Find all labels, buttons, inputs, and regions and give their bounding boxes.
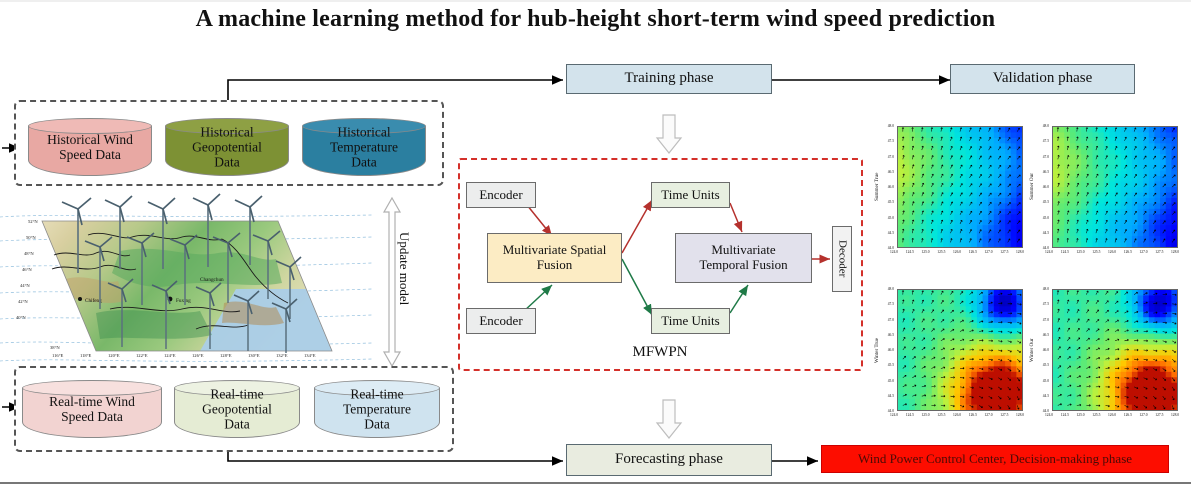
heatmap-cell bbox=[1132, 383, 1138, 389]
label-line: Speed Data bbox=[28, 147, 152, 162]
axis-xtick: 127.5 bbox=[1155, 250, 1163, 254]
heatmap-cell bbox=[1076, 317, 1082, 323]
axis-xtick: 128.0 bbox=[1016, 413, 1024, 417]
heatmap-cell bbox=[909, 388, 915, 394]
heatmap-cell bbox=[1109, 198, 1115, 204]
heatmap-cell bbox=[1132, 345, 1138, 351]
heatmap-cell bbox=[949, 328, 955, 334]
heatmap-cell bbox=[932, 149, 938, 155]
heatmap-cell bbox=[937, 394, 943, 400]
heatmap-cell bbox=[1070, 306, 1076, 312]
heatmap-cell bbox=[1005, 138, 1011, 144]
heatmap-cell bbox=[977, 242, 983, 247]
heatmap-cell bbox=[983, 171, 989, 177]
heatmap-cell bbox=[1087, 187, 1093, 193]
label-line: Geopotential bbox=[174, 401, 300, 416]
heatmap-cell bbox=[983, 339, 989, 345]
heatmap-cell bbox=[1092, 171, 1098, 177]
heatmap-cell bbox=[1053, 187, 1059, 193]
heatmap-cell bbox=[994, 171, 1000, 177]
heatmap-cell bbox=[960, 132, 966, 138]
heatmap-cell bbox=[994, 198, 1000, 204]
heatmap-cell bbox=[1098, 220, 1104, 226]
heatmap-cell bbox=[1160, 306, 1166, 312]
time-units-bottom-box[interactable]: Time Units bbox=[651, 308, 730, 334]
heatmap-cell bbox=[966, 399, 972, 405]
heatmap-cell bbox=[949, 312, 955, 318]
time-units-top-box[interactable]: Time Units bbox=[651, 182, 730, 208]
heatmap-cell bbox=[943, 209, 949, 215]
heatmap-cell bbox=[977, 209, 983, 215]
heatmap-cell bbox=[1087, 328, 1093, 334]
heatmap-cell bbox=[954, 405, 960, 410]
heatmap-cell bbox=[1149, 301, 1155, 307]
heatmap-cell bbox=[909, 160, 915, 166]
axis-xtick: 126.0 bbox=[1108, 413, 1116, 417]
heatmap-cell bbox=[1098, 236, 1104, 242]
heatmap-cell bbox=[1081, 366, 1087, 372]
heatmap-cell bbox=[983, 383, 989, 389]
heatmap-cell bbox=[1166, 317, 1172, 323]
heatmap-cell bbox=[966, 203, 972, 209]
heatmap-cell bbox=[1138, 160, 1144, 166]
heatmap-cell bbox=[1064, 154, 1070, 160]
heatmap-cell bbox=[1070, 203, 1076, 209]
heatmap-cell bbox=[983, 236, 989, 242]
heatmap-cell bbox=[904, 154, 910, 160]
heatmap-cell bbox=[926, 366, 932, 372]
heatmap-cell bbox=[1076, 160, 1082, 166]
heatmap-cell bbox=[1109, 312, 1115, 318]
heatmap-cell bbox=[1149, 394, 1155, 400]
cylinder-realtime-wind-speed[interactable]: Real-time Wind Speed Data bbox=[22, 380, 162, 438]
heatmap-cell bbox=[1016, 334, 1022, 340]
heatmap-cell bbox=[1070, 127, 1076, 133]
heatmap-cell bbox=[926, 231, 932, 237]
heatmap-cell bbox=[1081, 377, 1087, 383]
heatmap-cell bbox=[1143, 334, 1149, 340]
heatmap-cell bbox=[966, 295, 972, 301]
multivariate-spatial-fusion-box[interactable]: Multivariate Spatial Fusion bbox=[487, 233, 622, 283]
heatmap-cell bbox=[1092, 231, 1098, 237]
heatmap-cell bbox=[977, 154, 983, 160]
forecasting-phase-box[interactable]: Forecasting phase bbox=[566, 444, 772, 476]
heatmap-cell bbox=[954, 388, 960, 394]
heatmap-cell bbox=[1076, 127, 1082, 133]
heatmap-cell bbox=[1171, 388, 1177, 394]
heatmap-cell bbox=[1011, 225, 1017, 231]
heatmap-cell bbox=[904, 187, 910, 193]
heatmap-cell bbox=[1115, 149, 1121, 155]
heatmap-cell bbox=[983, 182, 989, 188]
heatmap-cell bbox=[1005, 399, 1011, 405]
heatmap-cell bbox=[983, 214, 989, 220]
heatmap-cell bbox=[926, 203, 932, 209]
heatmap-cell bbox=[921, 138, 927, 144]
heatmap-cell bbox=[999, 154, 1005, 160]
heatmap-cell bbox=[1166, 236, 1172, 242]
heatmap-cell bbox=[1160, 372, 1166, 378]
axis-ytick: 47.0 bbox=[1029, 155, 1049, 159]
heatmap-cell bbox=[904, 290, 910, 296]
heatmap-cell bbox=[1081, 143, 1087, 149]
heatmap-cell bbox=[983, 355, 989, 361]
heatmap-cell bbox=[1011, 383, 1017, 389]
encoder-top-box[interactable]: Encoder bbox=[466, 182, 536, 208]
heatmap-cell bbox=[983, 203, 989, 209]
heatmap-cell bbox=[926, 317, 932, 323]
heatmap-cell bbox=[1104, 242, 1110, 247]
heatmap-cell bbox=[1154, 231, 1160, 237]
heatmap-cell bbox=[1138, 372, 1144, 378]
heatmap-cell bbox=[1154, 290, 1160, 296]
heatmap-cell bbox=[1171, 198, 1177, 204]
heatmap-cell bbox=[1154, 405, 1160, 410]
heatmap-cell bbox=[983, 225, 989, 231]
heatmap-cell bbox=[1109, 388, 1115, 394]
heatmap-cell bbox=[943, 306, 949, 312]
heatmap-cell bbox=[1166, 399, 1172, 405]
heatmap-cell bbox=[1154, 350, 1160, 356]
heatmap-cell bbox=[971, 138, 977, 144]
heatmap-cell bbox=[1053, 366, 1059, 372]
heatmap-cell bbox=[1160, 334, 1166, 340]
heatmap-cell bbox=[932, 361, 938, 367]
heatmap-cell bbox=[1166, 366, 1172, 372]
box-line: Fusion bbox=[537, 258, 572, 273]
heatmap-cell bbox=[1154, 242, 1160, 247]
heatmap-cell bbox=[1109, 127, 1115, 133]
heatmap-cell bbox=[966, 149, 972, 155]
heatmap-cell bbox=[1149, 171, 1155, 177]
heatmap-cell bbox=[1070, 176, 1076, 182]
china-terrain-wind-farm-map: Chifeng Fuxing Changchun 52°N 50°N bbox=[0, 193, 372, 369]
axis-ytick: 45.0 bbox=[1029, 379, 1049, 383]
heatmap-cell bbox=[1005, 306, 1011, 312]
heatmap-cell bbox=[1109, 149, 1115, 155]
label-line: Data bbox=[314, 417, 440, 432]
heatmap-cell bbox=[1160, 366, 1166, 372]
heatmap-cell bbox=[932, 176, 938, 182]
heatmap-cell bbox=[909, 399, 915, 405]
heatmap-cell bbox=[1109, 301, 1115, 307]
heatmap-cell bbox=[1098, 405, 1104, 410]
heatmap-cell bbox=[1121, 231, 1127, 237]
axis-xtick: 124.0 bbox=[890, 250, 898, 254]
heatmap-cell bbox=[949, 187, 955, 193]
heatmap-cell bbox=[1154, 171, 1160, 177]
heatmap-cell bbox=[1098, 306, 1104, 312]
heatmap-cell bbox=[966, 160, 972, 166]
heatmap-cell bbox=[1087, 350, 1093, 356]
heatmap-cell bbox=[966, 366, 972, 372]
heatmap-cell bbox=[943, 242, 949, 247]
axis-ytick: 47.5 bbox=[1029, 302, 1049, 306]
heatmap-cell bbox=[904, 176, 910, 182]
heatmap-cell bbox=[971, 312, 977, 318]
heatmap-cell bbox=[1109, 225, 1115, 231]
heatmap-cell bbox=[921, 290, 927, 296]
heatmap-cell bbox=[932, 138, 938, 144]
heatmap-cell bbox=[1098, 290, 1104, 296]
heatmap-cell bbox=[999, 171, 1005, 177]
heatmap-cell bbox=[1115, 242, 1121, 247]
heatmap-cell bbox=[999, 306, 1005, 312]
encoder-bottom-box[interactable]: Encoder bbox=[466, 308, 536, 334]
heatmap-cell bbox=[1166, 323, 1172, 329]
heatmap-cell bbox=[1092, 312, 1098, 318]
heatmap-cell bbox=[960, 388, 966, 394]
heatmap-cell bbox=[954, 361, 960, 367]
heatmap-cell bbox=[1059, 143, 1065, 149]
heatmap-cell bbox=[1011, 242, 1017, 247]
heatmap-cell bbox=[1121, 366, 1127, 372]
heatmap-cell bbox=[960, 323, 966, 329]
heatmap-cell bbox=[921, 154, 927, 160]
heatmap-cell bbox=[1121, 399, 1127, 405]
heatmap-cell bbox=[1064, 171, 1070, 177]
heatmap-cell bbox=[1081, 198, 1087, 204]
heatmap-cell bbox=[1149, 328, 1155, 334]
axis-xtick: 124.0 bbox=[890, 413, 898, 417]
heatmap-cell bbox=[1171, 345, 1177, 351]
heatmap-cell bbox=[1109, 361, 1115, 367]
heatmap-cell bbox=[1160, 214, 1166, 220]
heatmap-cell bbox=[1092, 388, 1098, 394]
heatmap-cell bbox=[983, 306, 989, 312]
heatmap-cell bbox=[1059, 377, 1065, 383]
heatmap-cell bbox=[1053, 388, 1059, 394]
heatmap-cell bbox=[1104, 388, 1110, 394]
heatmap-cell bbox=[937, 339, 943, 345]
heatmap-cell bbox=[1166, 127, 1172, 133]
heatmap-cell bbox=[904, 242, 910, 247]
heatmap-cell bbox=[1005, 295, 1011, 301]
heatmap-cell bbox=[1064, 143, 1070, 149]
heatmap-cell bbox=[1098, 225, 1104, 231]
training-phase-box[interactable]: Training phase bbox=[566, 64, 772, 94]
heatmap-cell bbox=[971, 214, 977, 220]
heatmap-cell bbox=[1064, 377, 1070, 383]
axis-xtick: 125.5 bbox=[937, 413, 945, 417]
heatmap-cell bbox=[977, 182, 983, 188]
heatmap-canvas bbox=[898, 290, 1022, 410]
axis-xtick: 127.0 bbox=[985, 413, 993, 417]
heatmap-cell bbox=[1016, 405, 1022, 410]
heatmap-cell bbox=[1098, 361, 1104, 367]
heatmap-cell bbox=[1011, 143, 1017, 149]
heatmap-cell bbox=[1059, 214, 1065, 220]
heatmap-cell bbox=[1160, 203, 1166, 209]
heatmap-cell bbox=[1011, 138, 1017, 144]
decoder-box[interactable]: Decoder bbox=[832, 226, 852, 292]
heatmap-cell bbox=[1166, 377, 1172, 383]
heatmap-cell bbox=[954, 323, 960, 329]
axis-xtick: 128.0 bbox=[1171, 413, 1179, 417]
heatmap-cell bbox=[1005, 312, 1011, 318]
heatmap-cell bbox=[954, 350, 960, 356]
heatmap-cell bbox=[926, 187, 932, 193]
heatmap-cell bbox=[1143, 160, 1149, 166]
heatmap-cell bbox=[937, 138, 943, 144]
heatmap-cell bbox=[983, 154, 989, 160]
heatmap-cell bbox=[1087, 225, 1093, 231]
heatmap-cell bbox=[1121, 138, 1127, 144]
axis-ytick: 44.5 bbox=[874, 394, 894, 398]
heatmap-cell bbox=[1011, 182, 1017, 188]
heatmap-cell bbox=[1011, 290, 1017, 296]
heatmap-cell bbox=[1076, 301, 1082, 307]
cylinder-historical-temperature[interactable]: Historical Temperature Data bbox=[302, 118, 426, 176]
heatmap-cell bbox=[943, 225, 949, 231]
heatmap-cell bbox=[1109, 203, 1115, 209]
multivariate-temporal-fusion-box[interactable]: Multivariate Temporal Fusion bbox=[675, 233, 812, 283]
heatmap-cell bbox=[1166, 355, 1172, 361]
axis-ytick: 46.5 bbox=[874, 333, 894, 337]
heatmap-cell bbox=[1064, 187, 1070, 193]
heatmap-cell bbox=[1109, 339, 1115, 345]
heatmap-cell bbox=[971, 149, 977, 155]
heatmap-cell bbox=[1138, 377, 1144, 383]
heatmap-cell bbox=[909, 394, 915, 400]
heatmap-cell bbox=[898, 399, 904, 405]
heatmap-cell bbox=[1109, 231, 1115, 237]
heatmap-cell bbox=[1070, 192, 1076, 198]
validation-phase-box[interactable]: Validation phase bbox=[950, 64, 1135, 94]
heatmap-cell bbox=[1092, 399, 1098, 405]
cylinder-realtime-geopotential[interactable]: Real-time Geopotential Data bbox=[174, 380, 300, 438]
heatmap-cell bbox=[1109, 295, 1115, 301]
heatmap-cell bbox=[1081, 214, 1087, 220]
heatmap-cell bbox=[1143, 361, 1149, 367]
heatmap-cell bbox=[915, 160, 921, 166]
heatmap-cell bbox=[909, 214, 915, 220]
heatmap-cell bbox=[988, 372, 994, 378]
panel-summer-true: Summer True 124.0124.5125.0125.5126.0126… bbox=[872, 118, 1032, 273]
heatmap-cell bbox=[1171, 160, 1177, 166]
heatmap-cell bbox=[915, 132, 921, 138]
heatmap-cell bbox=[1070, 377, 1076, 383]
heatmap-cell bbox=[943, 388, 949, 394]
heatmap-cell bbox=[954, 355, 960, 361]
heatmap-cell bbox=[949, 301, 955, 307]
heatmap-cell bbox=[954, 377, 960, 383]
heatmap-cell bbox=[1016, 138, 1022, 144]
cylinder-historical-wind-speed[interactable]: Historical Wind Speed Data bbox=[28, 118, 152, 176]
heatmap-cell bbox=[1076, 312, 1082, 318]
heatmap-cell bbox=[904, 306, 910, 312]
cylinder-realtime-temperature[interactable]: Real-time Temperature Data bbox=[314, 380, 440, 438]
heatmap-cell bbox=[966, 138, 972, 144]
heatmap-cell bbox=[977, 339, 983, 345]
heatmap-cell bbox=[904, 236, 910, 242]
heatmap-cell bbox=[1115, 182, 1121, 188]
heatmap-cell bbox=[921, 355, 927, 361]
heatmap-cell bbox=[1121, 209, 1127, 215]
heatmap-cell bbox=[1059, 187, 1065, 193]
heatmap-cell bbox=[1138, 312, 1144, 318]
heatmap-cell bbox=[1059, 312, 1065, 318]
heatmap-cell bbox=[915, 225, 921, 231]
heatmap-cell bbox=[1166, 192, 1172, 198]
heatmap-cell bbox=[1149, 295, 1155, 301]
heatmap-cell bbox=[1104, 399, 1110, 405]
heatmap-cell bbox=[954, 242, 960, 247]
heatmap-cell bbox=[1092, 394, 1098, 400]
heatmap-cell bbox=[960, 176, 966, 182]
heatmap-cell bbox=[1092, 361, 1098, 367]
control-center-box[interactable]: Wind Power Control Center, Decision-maki… bbox=[821, 445, 1169, 473]
heatmap-cell bbox=[1166, 149, 1172, 155]
heatmap-cell bbox=[904, 334, 910, 340]
heatmap-cell bbox=[926, 306, 932, 312]
heatmap-cell bbox=[1126, 328, 1132, 334]
heatmap-cell bbox=[1053, 214, 1059, 220]
heatmap-cell bbox=[1138, 339, 1144, 345]
heatmap-cell bbox=[1059, 366, 1065, 372]
heatmap-cell bbox=[1138, 154, 1144, 160]
heatmap-cell bbox=[926, 214, 932, 220]
axis-xtick: 126.5 bbox=[1124, 413, 1132, 417]
heatmap-cell bbox=[1132, 388, 1138, 394]
cylinder-label: Real-time Wind Speed Data bbox=[22, 394, 162, 424]
heatmap-cell bbox=[1109, 334, 1115, 340]
heatmap-cell bbox=[1070, 171, 1076, 177]
heatmap-cell bbox=[971, 323, 977, 329]
heatmap-cell bbox=[921, 203, 927, 209]
heatmap-cell bbox=[1126, 242, 1132, 247]
heatmap-cell bbox=[994, 399, 1000, 405]
heatmap-cell bbox=[1166, 160, 1172, 166]
heatmap-cell bbox=[1070, 154, 1076, 160]
heatmap-cell bbox=[904, 377, 910, 383]
heatmap-cell bbox=[1005, 361, 1011, 367]
ytick-col: 48.047.547.046.546.045.545.044.544.0 bbox=[1029, 126, 1051, 248]
heatmap-cell bbox=[994, 345, 1000, 351]
heatmap-cell bbox=[960, 165, 966, 171]
cylinder-historical-geopotential[interactable]: Historical Geopotential Data bbox=[165, 118, 289, 176]
heatmap-cell bbox=[1143, 242, 1149, 247]
heatmap-cell bbox=[1070, 339, 1076, 345]
heatmap-cell bbox=[971, 160, 977, 166]
heatmap-cell bbox=[994, 388, 1000, 394]
heatmap-cell bbox=[1126, 236, 1132, 242]
heatmap-cell bbox=[999, 339, 1005, 345]
heatmap-cell bbox=[1053, 372, 1059, 378]
heatmap-cell bbox=[904, 225, 910, 231]
heatmap-cell bbox=[1109, 355, 1115, 361]
heatmap-cell bbox=[971, 361, 977, 367]
heatmap-cell bbox=[1005, 231, 1011, 237]
heatmap-cell bbox=[999, 377, 1005, 383]
axis-ytick: 46.5 bbox=[1029, 333, 1049, 337]
heatmap-cell bbox=[909, 143, 915, 149]
heatmap-cell bbox=[999, 242, 1005, 247]
heatmap-cell bbox=[937, 377, 943, 383]
heatmap-cell bbox=[1121, 312, 1127, 318]
axis-xtick: 126.5 bbox=[969, 250, 977, 254]
heatmap-cell bbox=[1154, 160, 1160, 166]
heatmap-cell bbox=[994, 361, 1000, 367]
heatmap-cell bbox=[1087, 323, 1093, 329]
axis-ytick: 44.0 bbox=[874, 246, 894, 250]
heatmap-cell bbox=[1092, 301, 1098, 307]
heatmap-cell bbox=[1092, 366, 1098, 372]
heatmap-cell bbox=[1053, 242, 1059, 247]
heatmap-cell bbox=[1016, 355, 1022, 361]
heatmap-cell bbox=[1005, 366, 1011, 372]
heatmap-cell bbox=[937, 171, 943, 177]
